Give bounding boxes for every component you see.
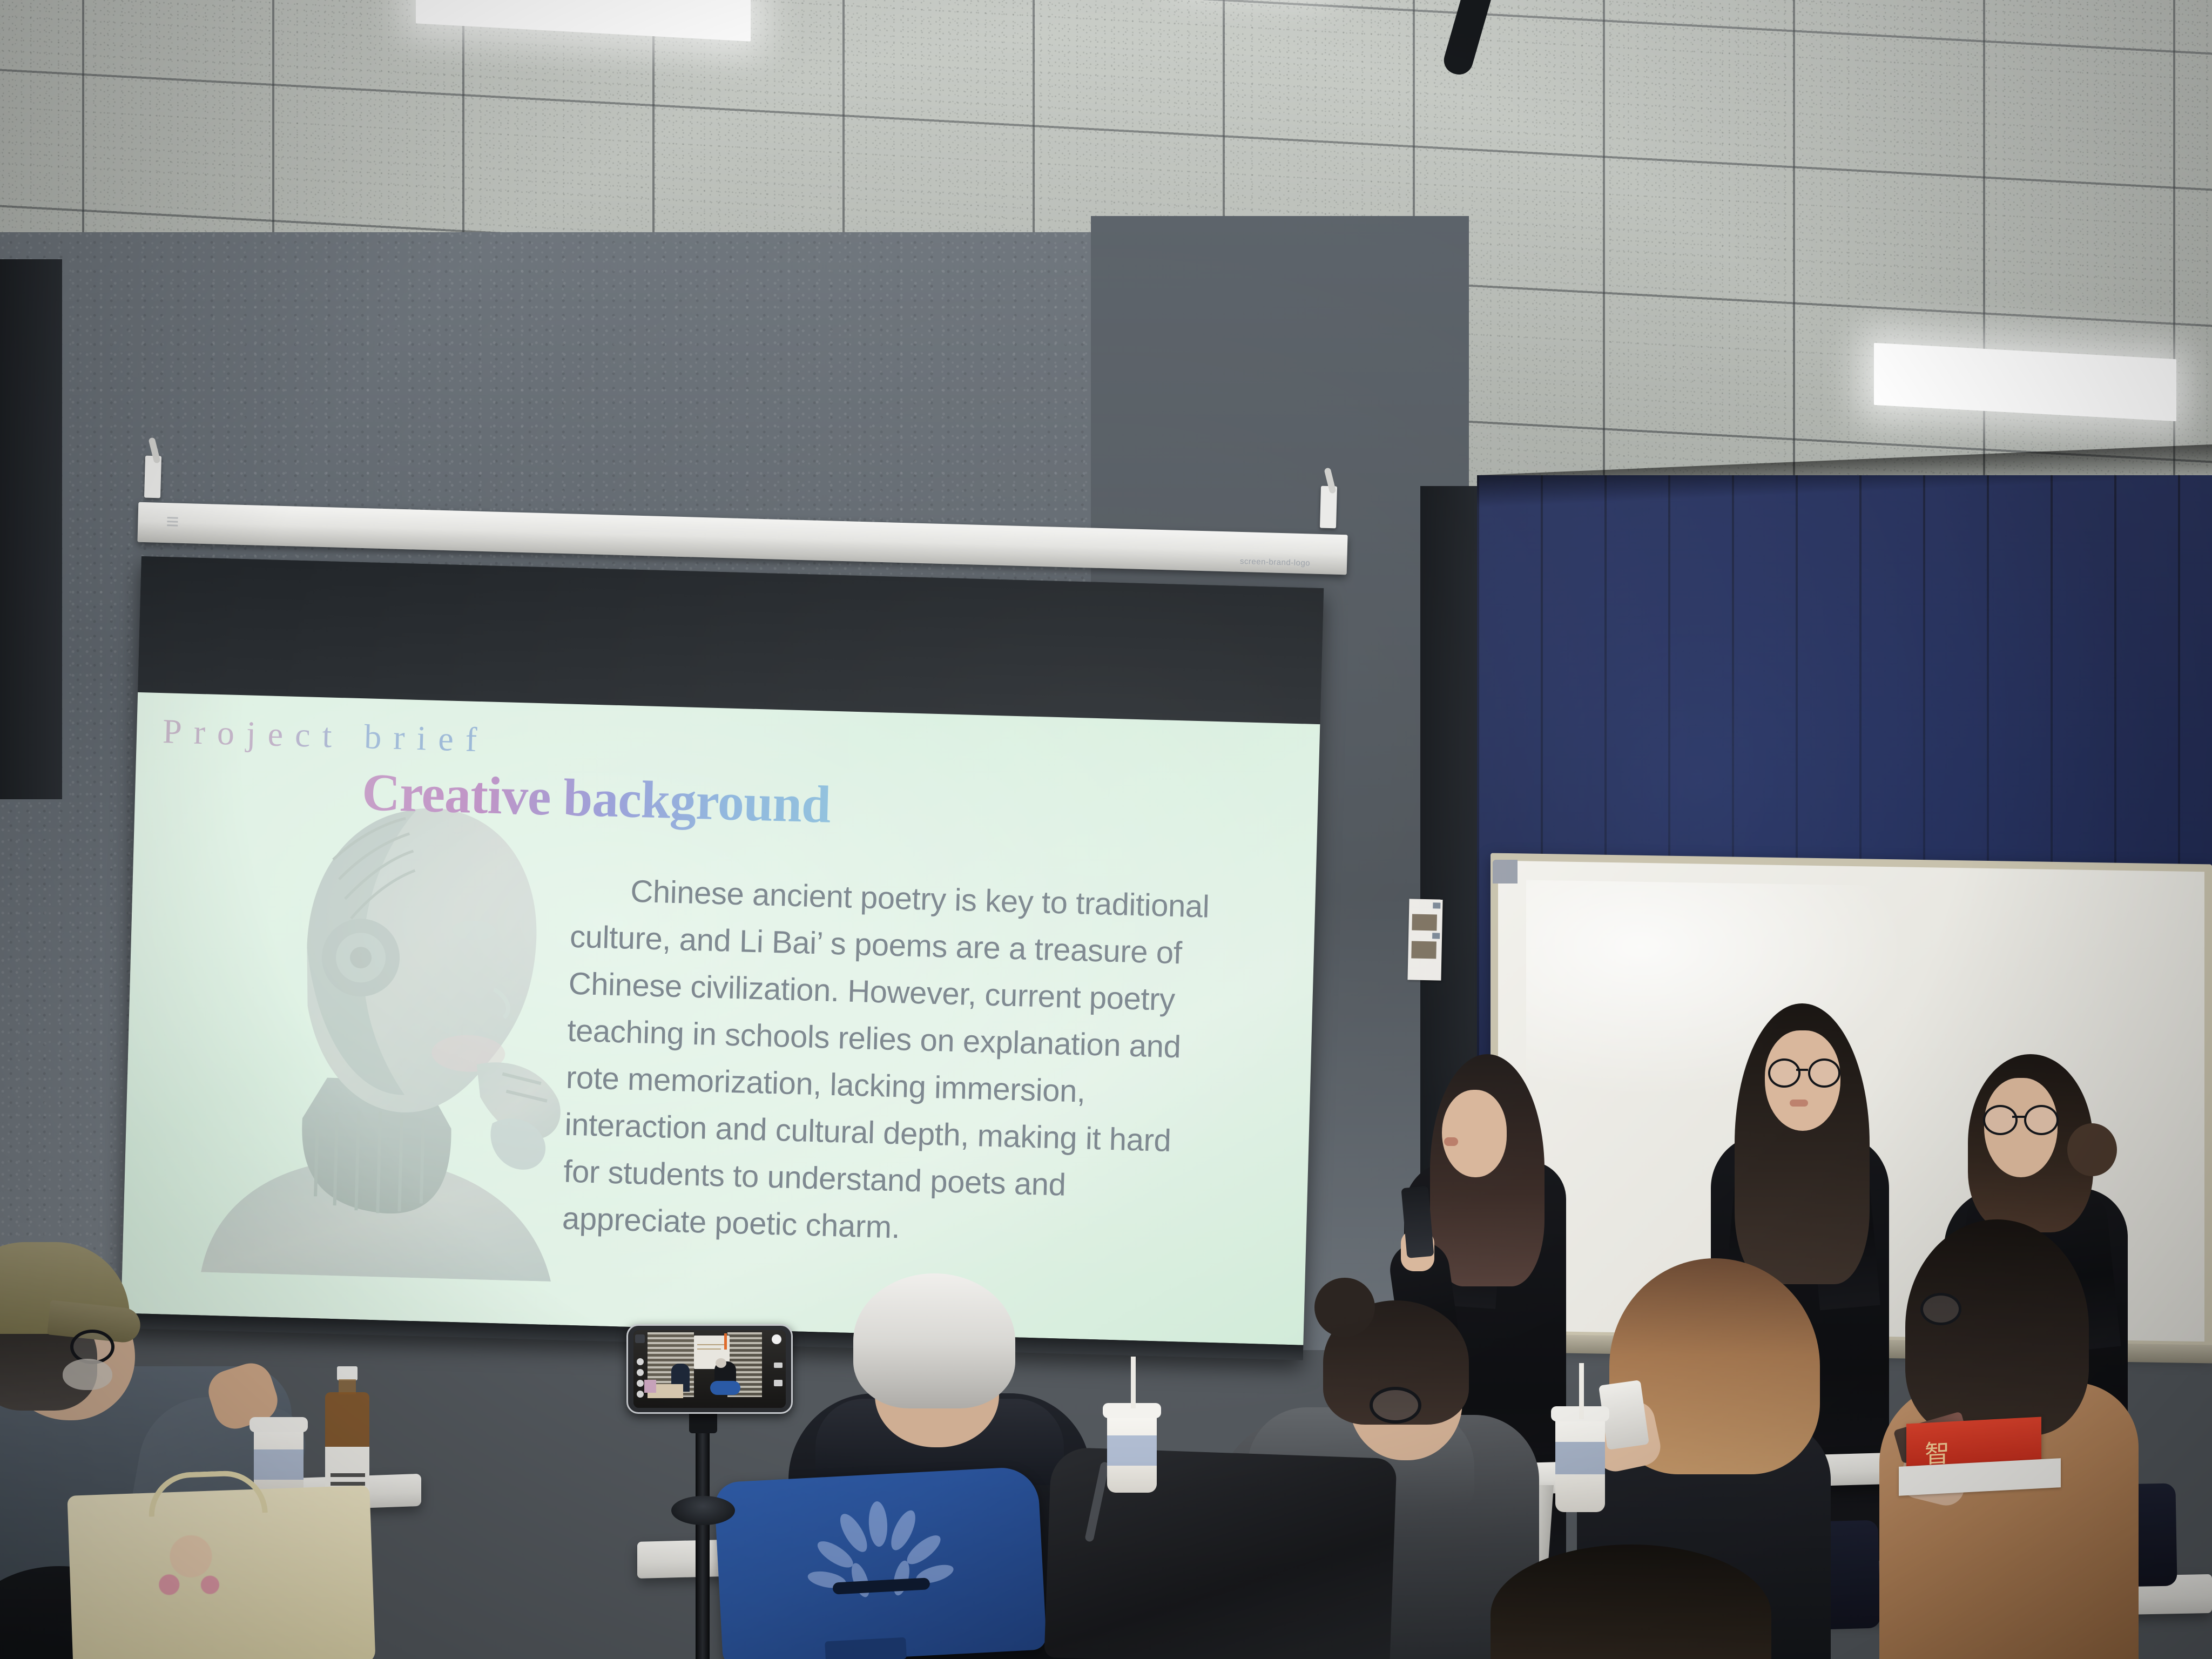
tripod-adjust-knob[interactable]: [671, 1496, 735, 1525]
left-dark-column: [0, 259, 62, 799]
tan-coat-glasses: [1920, 1293, 1961, 1325]
notice-photo: [1412, 914, 1437, 930]
tea-bottle-cap: [337, 1366, 358, 1380]
slide-body-text: Chinese ancient poetry is key to traditi…: [562, 866, 1219, 1259]
iced-cup-straw: [1579, 1363, 1584, 1419]
coffee-cup-2[interactable]: [1107, 1412, 1157, 1493]
iced-cup[interactable]: [1555, 1415, 1605, 1512]
presenter-3-glasses-bridge: [2012, 1116, 2025, 1118]
tote-bag-print: [133, 1522, 249, 1607]
presenter-2-glasses-right: [1808, 1058, 1840, 1088]
preview-rec-indicator: [724, 1333, 727, 1350]
coffee-cup-2-straw: [1131, 1357, 1136, 1408]
tan-coat-hair: [1905, 1219, 2089, 1435]
presenter-3-bun: [2067, 1123, 2117, 1176]
coffee-cup-1-sleeve: [254, 1449, 304, 1480]
notice-tag-icon: [1432, 933, 1440, 939]
presenter-3-glasses-left: [1983, 1105, 2018, 1135]
front-head-hair: [1491, 1545, 1771, 1659]
white-hair-hair: [853, 1273, 1015, 1408]
duffel-bag-strap: [825, 1637, 907, 1659]
presenter-3-glasses-right: [2024, 1105, 2059, 1135]
preview-ui-dot: [637, 1369, 644, 1376]
coffee-cup-1-lid: [249, 1417, 308, 1432]
presenter-2-glasses-bridge: [1796, 1069, 1808, 1071]
preview-screen-line: [697, 1344, 724, 1345]
preview-duffel: [710, 1381, 740, 1395]
phone-camera-preview: [633, 1330, 786, 1408]
black-bag-drawstring: [1084, 1461, 1110, 1542]
preview-shutter-button[interactable]: [772, 1334, 781, 1344]
preview-ui-badge: [635, 1334, 645, 1343]
preview-ui-dot: [637, 1391, 644, 1398]
preview-pink-object: [644, 1380, 656, 1393]
tote-bag[interactable]: [67, 1485, 375, 1659]
bun-woman-bun: [1314, 1278, 1375, 1337]
screen-brand-logo-icon: [166, 515, 180, 531]
presenter-1-mouth: [1444, 1137, 1458, 1146]
cap-man-beard: [63, 1359, 112, 1390]
coffee-cup-2-sleeve: [1107, 1435, 1157, 1466]
slide-kicker: Project brief: [162, 711, 489, 760]
classroom-photo-scene: screen-brand-logo: [0, 0, 2212, 1659]
preview-ui-chip: [774, 1380, 783, 1386]
bun-woman-glasses: [1370, 1387, 1421, 1424]
presenter-2-mouth: [1790, 1100, 1808, 1107]
preview-person-right-head: [716, 1358, 726, 1368]
black-bag-pile[interactable]: [1044, 1447, 1397, 1659]
audience-front-head: [1491, 1545, 1771, 1659]
duffel-flower-print-icon: [796, 1496, 964, 1617]
tripod-pole: [696, 1426, 710, 1659]
preview-screen-line: [697, 1348, 721, 1350]
duffel-bag[interactable]: [714, 1466, 1047, 1659]
preview-ui-dot: [637, 1380, 644, 1387]
presenter-2-glasses-left: [1768, 1058, 1800, 1088]
presenter-1-face: [1442, 1090, 1507, 1177]
slide-title: Creative background: [361, 762, 831, 835]
preview-ui-chip: [774, 1363, 783, 1368]
preview-ui-dot: [637, 1358, 644, 1365]
wall-notice-sheet: [1407, 899, 1442, 980]
screen-housing-label: screen-brand-logo: [1240, 557, 1311, 568]
whiteboard-corner-cap: [1493, 860, 1518, 884]
notice-tag-icon: [1433, 902, 1440, 908]
phone-on-tripod[interactable]: [626, 1324, 793, 1414]
notice-photo: [1411, 941, 1437, 959]
iced-cup-sleeve: [1555, 1442, 1605, 1474]
